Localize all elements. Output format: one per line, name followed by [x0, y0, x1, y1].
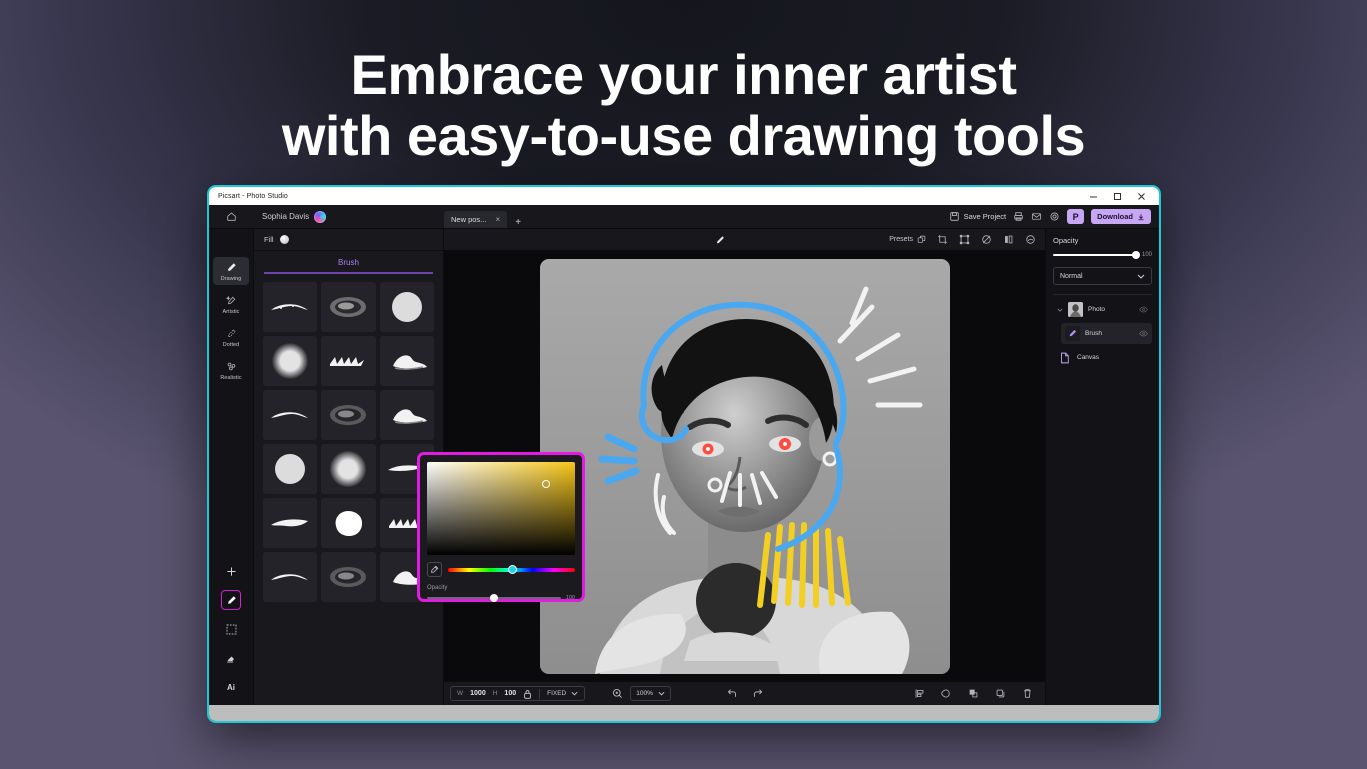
sidebar-item-drawing[interactable]: Drawing	[213, 257, 249, 285]
opacity-track[interactable]	[1053, 254, 1137, 256]
gear-icon[interactable]	[1049, 211, 1060, 222]
height-key: H	[493, 690, 498, 697]
opacity-value: 100	[1142, 252, 1152, 258]
selection-tool-button[interactable]	[221, 619, 241, 639]
brush-swatch[interactable]	[321, 282, 375, 332]
brush-icon	[225, 261, 238, 274]
layer-thumbnail	[1065, 326, 1080, 341]
layer-photo[interactable]: Photo	[1053, 299, 1152, 320]
sidebar-item-realistic[interactable]: Realistic	[213, 356, 249, 384]
brush-swatch[interactable]	[263, 498, 317, 548]
maximize-button[interactable]	[1105, 187, 1129, 205]
workspace: Drawing Artistic Dotted Realistic	[209, 229, 1159, 705]
canvas-toolbar: Presets	[444, 229, 1045, 251]
download-icon	[1137, 213, 1145, 221]
sidebar-label-dotted: Dotted	[223, 342, 239, 348]
picker-opacity-track[interactable]	[427, 597, 561, 599]
layer-canvas[interactable]: Canvas	[1053, 347, 1152, 368]
opacity-knob[interactable]	[1132, 251, 1140, 259]
ai-tool-button[interactable]: Ai	[221, 677, 241, 697]
print-icon[interactable]	[1013, 211, 1024, 222]
layer-name: Brush	[1085, 330, 1102, 337]
add-tab-button[interactable]: +	[507, 217, 529, 228]
canvas-bottom-toolbar: W 1000 H 100 FIXED 100%	[444, 681, 1045, 705]
splatter-wedge-icon	[385, 350, 429, 372]
brush-swatch[interactable]	[263, 336, 317, 386]
sidebar-item-dotted[interactable]: Dotted	[213, 323, 249, 351]
dashed-square-icon	[225, 623, 238, 636]
ai-label: Ai	[227, 683, 235, 692]
mirror-icon[interactable]	[1003, 234, 1014, 245]
layers-panel: Opacity 100 Normal	[1045, 229, 1159, 705]
eyedropper-button[interactable]	[427, 562, 442, 577]
home-icon	[226, 211, 237, 222]
download-button[interactable]: Download	[1091, 209, 1151, 224]
shape-icon[interactable]	[941, 688, 952, 699]
brush-swatch[interactable]	[380, 282, 434, 332]
fill-color-swatch[interactable]	[280, 235, 289, 244]
brush-tabs: Brush	[254, 251, 443, 274]
save-icon	[949, 211, 960, 222]
layer-name: Canvas	[1077, 354, 1099, 361]
download-label: Download	[1097, 212, 1133, 221]
presets-label: Presets	[889, 236, 913, 243]
brush-grid	[254, 274, 443, 706]
width-value[interactable]: 1000	[470, 690, 486, 697]
splatter-wedge-icon	[385, 404, 429, 426]
color-picker-popup[interactable]: Opacity 100	[417, 452, 585, 602]
hue-row	[427, 562, 575, 577]
plus-icon	[225, 565, 238, 578]
eraser-icon	[225, 652, 238, 665]
brush-stroke-icon	[714, 234, 726, 246]
layer-thumbnail	[1068, 302, 1083, 317]
blend-mode-select[interactable]: Normal	[1053, 267, 1152, 285]
fill-label: Fill	[264, 235, 274, 244]
fill-row[interactable]: Fill	[254, 229, 443, 251]
headline-line-1: Embrace your inner artist	[0, 44, 1367, 105]
layer-visibility-toggle[interactable]	[1139, 306, 1148, 313]
dimensions-group[interactable]: W 1000 H 100 FIXED	[450, 686, 585, 701]
chevron-down-icon	[1137, 274, 1145, 279]
photo-thumb-icon	[1068, 302, 1083, 317]
headline-line-2: with easy-to-use drawing tools	[0, 105, 1367, 166]
circle-hard-icon	[391, 291, 423, 323]
layer-expand-chevron[interactable]	[1057, 308, 1063, 312]
brush-swatch[interactable]	[263, 552, 317, 602]
close-button[interactable]	[1129, 187, 1153, 205]
tab-label: New pos...	[451, 215, 486, 224]
blend-mode-value: Normal	[1060, 273, 1083, 280]
tools-sidebar: Drawing Artistic Dotted Realistic	[209, 229, 254, 705]
undo-icon[interactable]	[726, 689, 738, 699]
circle-soft-icon	[330, 451, 366, 487]
hue-knob[interactable]	[508, 565, 517, 574]
brush-icon	[1067, 328, 1078, 339]
circle-soft-icon	[272, 343, 308, 379]
realistic-brush-icon	[225, 360, 238, 373]
blob-smudge-icon	[326, 402, 370, 428]
stroke-rough-icon	[267, 405, 313, 425]
eyedropper-icon	[430, 565, 439, 574]
tools-sidebar-bottom: Ai	[209, 561, 253, 697]
chevron-down-icon	[1057, 308, 1063, 312]
app-toolbar: Sophia Davis New pos... × + Save Project	[209, 205, 1159, 229]
presets-icon	[917, 235, 926, 244]
home-button[interactable]	[209, 211, 254, 222]
window-titlebar: Picsart - Photo Studio	[209, 187, 1159, 205]
copy-icon[interactable]	[995, 688, 1006, 699]
picker-opacity-label: Opacity	[427, 585, 575, 591]
artboard[interactable]	[540, 259, 950, 674]
effects-icon[interactable]	[1025, 234, 1036, 245]
window-controls	[1081, 187, 1153, 205]
stroke-rough-icon	[267, 567, 313, 587]
stroke-rough-icon	[267, 297, 313, 317]
brush-panel: Fill Brush	[254, 229, 444, 705]
brush-swatch[interactable]	[263, 282, 317, 332]
circle-hard-icon	[274, 453, 306, 485]
add-layer-button[interactable]	[221, 561, 241, 581]
document-tabs: New pos... × +	[444, 205, 529, 228]
flip-icon[interactable]	[981, 234, 992, 245]
app-window: Picsart - Photo Studio Sophia Davis	[209, 187, 1159, 721]
save-project-button[interactable]: Save Project	[949, 211, 1007, 222]
app-window-frame: Picsart - Photo Studio Sophia Davis	[207, 185, 1161, 723]
picker-opacity-slider[interactable]: 100	[427, 595, 575, 601]
transform-icon[interactable]	[959, 234, 970, 245]
brush-swatch[interactable]	[321, 390, 375, 440]
zigzag-streak-icon	[326, 351, 370, 371]
blob-smudge-icon	[326, 294, 370, 320]
sidebar-label-artistic: Artistic	[223, 309, 240, 315]
artwork	[540, 259, 950, 674]
brush-swatch[interactable]	[321, 552, 375, 602]
eye-icon	[1139, 330, 1148, 337]
saturation-value-square[interactable]	[427, 462, 575, 555]
sidebar-item-artistic[interactable]: Artistic	[213, 290, 249, 318]
window-statusbar	[209, 705, 1159, 721]
layer-brush[interactable]: Brush	[1061, 323, 1152, 344]
chevron-down-icon	[571, 691, 578, 696]
brush-swatch[interactable]	[380, 336, 434, 386]
tab-brush[interactable]: Brush	[254, 258, 443, 272]
layer-visibility-toggle[interactable]	[1139, 330, 1148, 337]
brush-swatch[interactable]	[321, 444, 375, 494]
hue-slider[interactable]	[448, 568, 575, 572]
cloud-blob-icon	[330, 508, 366, 538]
history-controls	[726, 689, 764, 699]
brush-swatch[interactable]	[380, 390, 434, 440]
tab-close-icon[interactable]: ×	[495, 215, 500, 224]
minimize-button[interactable]	[1081, 187, 1105, 205]
brush-tool-button[interactable]	[221, 590, 241, 610]
save-project-label: Save Project	[964, 212, 1007, 221]
layers-list: Photo Brush	[1053, 294, 1152, 368]
sidebar-label-drawing: Drawing	[221, 276, 241, 282]
color-selector-knob[interactable]	[542, 480, 550, 488]
presets-button[interactable]: Presets	[889, 235, 926, 244]
user-name: Sophia Davis	[262, 212, 309, 221]
app-toolbar-actions: Save Project P Download	[949, 205, 1159, 228]
brush-swatch[interactable]	[263, 444, 317, 494]
document-icon	[1059, 352, 1070, 364]
blob-smudge-icon	[326, 564, 370, 590]
eye-icon	[1139, 306, 1148, 313]
lock-icon[interactable]	[523, 689, 532, 699]
avatar	[314, 211, 326, 223]
height-value[interactable]: 100	[504, 690, 516, 697]
dotted-brush-icon	[225, 327, 238, 340]
sidebar-label-realistic: Realistic	[220, 375, 241, 381]
tab-new-post[interactable]: New pos... ×	[444, 211, 507, 228]
zoom-level-select[interactable]: 100%	[630, 686, 671, 701]
duplicate-icon[interactable]	[968, 688, 979, 699]
page-headline: Embrace your inner artist with easy-to-u…	[0, 44, 1367, 166]
aspect-ratio-select[interactable]: FIXED	[547, 690, 578, 697]
aspect-ratio-value: FIXED	[547, 690, 566, 697]
layer-actions	[914, 688, 1045, 699]
divider	[539, 689, 540, 699]
canvas-tools: Presets	[889, 234, 1045, 245]
width-key: W	[457, 690, 463, 697]
opacity-slider[interactable]: 100	[1053, 252, 1152, 258]
zoom-in-icon[interactable]	[612, 688, 623, 699]
layer-thumbnail	[1057, 350, 1072, 365]
zoom-group: 100%	[612, 686, 671, 701]
delete-icon[interactable]	[1022, 688, 1033, 699]
align-icon[interactable]	[914, 688, 925, 699]
mail-icon[interactable]	[1031, 211, 1042, 222]
brush-icon	[225, 594, 238, 607]
picker-opacity-value: 100	[566, 595, 575, 601]
sparkle-brush-icon	[225, 294, 238, 307]
chevron-down-icon	[658, 691, 665, 696]
crop-icon[interactable]	[937, 234, 948, 245]
premium-badge[interactable]: P	[1067, 209, 1084, 224]
brush-preview[interactable]	[714, 234, 726, 246]
opacity-label: Opacity	[1053, 236, 1152, 245]
brush-swatch[interactable]	[321, 336, 375, 386]
eraser-tool-button[interactable]	[221, 648, 241, 668]
layer-name: Photo	[1088, 306, 1105, 313]
window-title: Picsart - Photo Studio	[218, 193, 288, 200]
zoom-level-value: 100%	[636, 690, 653, 697]
brush-swatch[interactable]	[321, 498, 375, 548]
user-account[interactable]: Sophia Davis	[254, 205, 444, 228]
picker-opacity-knob[interactable]	[490, 594, 498, 602]
flat-streak-icon	[268, 513, 312, 533]
redo-icon[interactable]	[752, 689, 764, 699]
brush-swatch[interactable]	[263, 390, 317, 440]
